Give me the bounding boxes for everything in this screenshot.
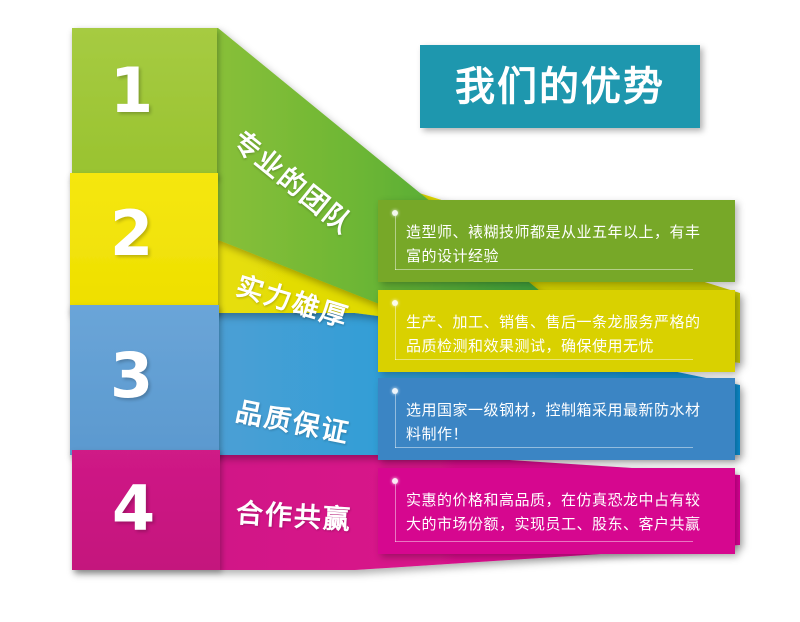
description-panel-4: 实惠的价格和高品质，在仿真恐龙中占有较大的市场份额，实现员工、股东、客户共赢	[378, 468, 735, 554]
description-panel-1: 造型师、裱糊技师都是从业五年以上，有丰富的设计经验	[378, 200, 735, 282]
description-text-4: 实惠的价格和高品质，在仿真恐龙中占有较大的市场份额，实现员工、股东、客户共赢	[406, 488, 709, 537]
description-text-2: 生产、加工、销售、售后一条龙服务严格的品质检测和效果测试，确保使用无忧	[406, 310, 709, 359]
description-text-1: 造型师、裱糊技师都是从业五年以上，有丰富的设计经验	[406, 220, 709, 269]
band-label-4: 合作共赢	[235, 500, 352, 534]
panel-bottom-rule	[395, 269, 694, 270]
panel-left-rule	[395, 394, 396, 448]
description-text-3: 选用国家一级钢材，控制箱采用最新防水材料制作！	[406, 398, 709, 447]
panel-left-rule	[395, 306, 396, 360]
panel-bottom-rule	[395, 359, 694, 360]
page-title-text: 我们的优势	[455, 67, 665, 107]
band-label-2: 实力雄厚	[233, 273, 352, 333]
description-panel-3: 选用国家一级钢材，控制箱采用最新防水材料制作！	[378, 378, 735, 460]
description-panel-2: 生产、加工、销售、售后一条龙服务严格的品质检测和效果测试，确保使用无忧	[378, 290, 735, 372]
infographic-root: 我们的优势 1 2 3 4 专业的团队 实力雄厚 品质保证 合作共赢 造型师、裱…	[0, 0, 800, 622]
band-label-1: 专业的团队	[228, 127, 358, 239]
panel-bottom-rule	[395, 447, 694, 448]
page-title: 我们的优势	[420, 45, 700, 128]
step-number-1: 1	[110, 60, 153, 122]
panel-left-rule	[395, 216, 396, 270]
step-number-4: 4	[112, 478, 155, 540]
panel-left-rule	[395, 484, 396, 542]
step-number-3: 3	[110, 345, 153, 407]
step-number-2: 2	[110, 203, 153, 265]
band-label-3: 品质保证	[233, 398, 352, 448]
panel-bottom-rule	[395, 541, 694, 542]
